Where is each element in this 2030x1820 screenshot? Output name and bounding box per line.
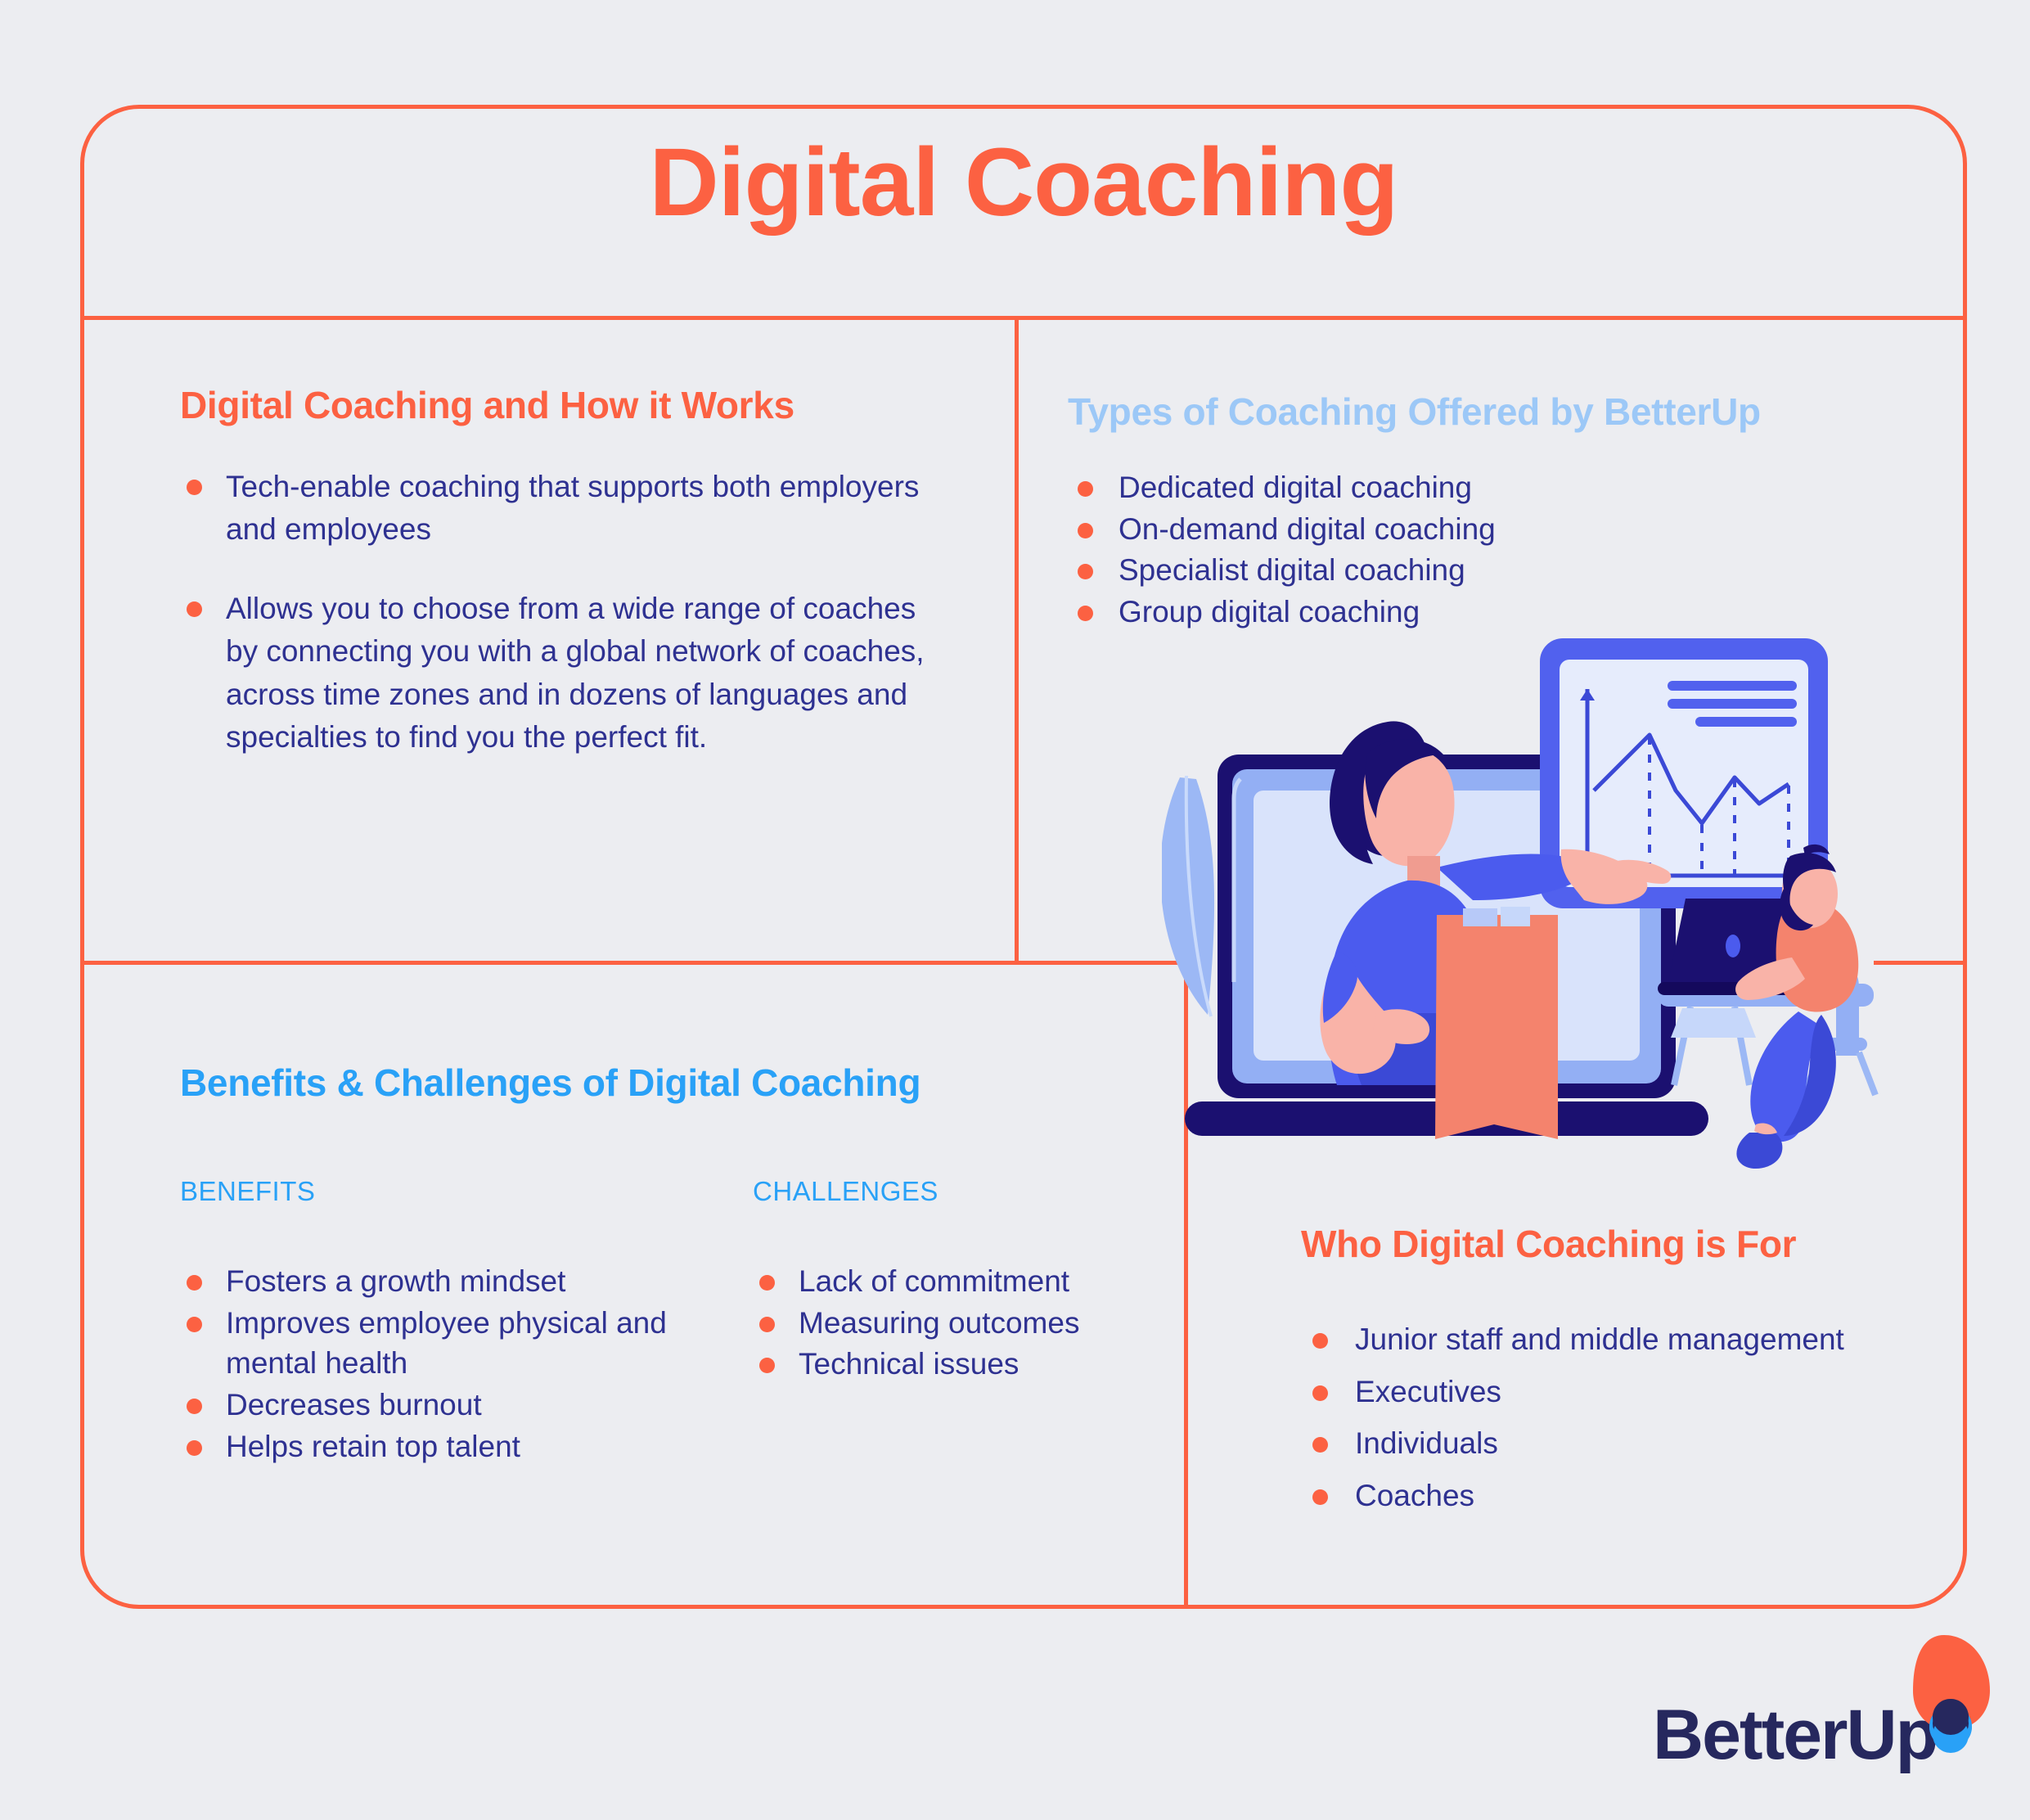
divider-horizontal-middle	[80, 961, 1185, 965]
list-item: Technical issues	[753, 1344, 1137, 1385]
list-item: Dedicated digital coaching	[1068, 467, 1935, 508]
section-types-of-coaching: Types of Coaching Offered by BetterUp De…	[1068, 391, 1935, 633]
list-item: On-demand digital coaching	[1068, 509, 1935, 550]
list-item: Improves employee physical and mental he…	[180, 1303, 753, 1385]
benefits-column: BENEFITS Fosters a growth mindset Improv…	[180, 1176, 753, 1469]
digital-coaching-illustration	[1162, 630, 1947, 1203]
list-item: Decreases burnout	[180, 1385, 753, 1426]
betterup-mark-icon	[1888, 1629, 2003, 1768]
section-heading-who-for: Who Digital Coaching is For	[1301, 1223, 1956, 1265]
section-heading-benefits-challenges: Benefits & Challenges of Digital Coachin…	[180, 1062, 1146, 1104]
how-it-works-list: Tech-enable coaching that supports both …	[180, 466, 933, 759]
challenges-column: CHALLENGES Lack of commitment Measuring …	[753, 1176, 1137, 1469]
section-how-it-works: Digital Coaching and How it Works Tech-e…	[180, 385, 933, 795]
divider-horizontal-top	[80, 316, 1967, 320]
list-item: Group digital coaching	[1068, 592, 1935, 633]
benefits-list: Fosters a growth mindset Improves employ…	[180, 1261, 753, 1468]
list-item: Coaches	[1301, 1475, 1956, 1516]
list-item: Lack of commitment	[753, 1261, 1137, 1302]
benefits-label: BENEFITS	[180, 1176, 753, 1207]
challenges-list: Lack of commitment Measuring outcomes Te…	[753, 1261, 1137, 1385]
list-item: Executives	[1301, 1372, 1956, 1412]
section-who-digital-coaching-is-for: Who Digital Coaching is For Junior staff…	[1301, 1223, 1956, 1528]
challenges-label: CHALLENGES	[753, 1176, 1137, 1207]
section-heading-types: Types of Coaching Offered by BetterUp	[1068, 391, 1935, 433]
list-item: Tech-enable coaching that supports both …	[180, 466, 933, 552]
betterup-logo: BetterUp	[1653, 1637, 1980, 1784]
divider-vertical-top	[1015, 320, 1019, 961]
list-item: Specialist digital coaching	[1068, 550, 1935, 591]
list-item: Junior staff and middle management	[1301, 1319, 1956, 1360]
types-list: Dedicated digital coaching On-demand dig…	[1068, 467, 1935, 633]
list-item: Helps retain top talent	[180, 1426, 753, 1467]
page-title: Digital Coaching	[80, 133, 1967, 234]
list-item: Allows you to choose from a wide range o…	[180, 588, 933, 759]
section-heading-how-it-works: Digital Coaching and How it Works	[180, 385, 933, 426]
list-item: Individuals	[1301, 1423, 1956, 1464]
list-item: Measuring outcomes	[753, 1303, 1137, 1344]
section-benefits-challenges: Benefits & Challenges of Digital Coachin…	[180, 1062, 1146, 1468]
list-item: Fosters a growth mindset	[180, 1261, 753, 1302]
who-for-list: Junior staff and middle management Execu…	[1301, 1319, 1956, 1517]
